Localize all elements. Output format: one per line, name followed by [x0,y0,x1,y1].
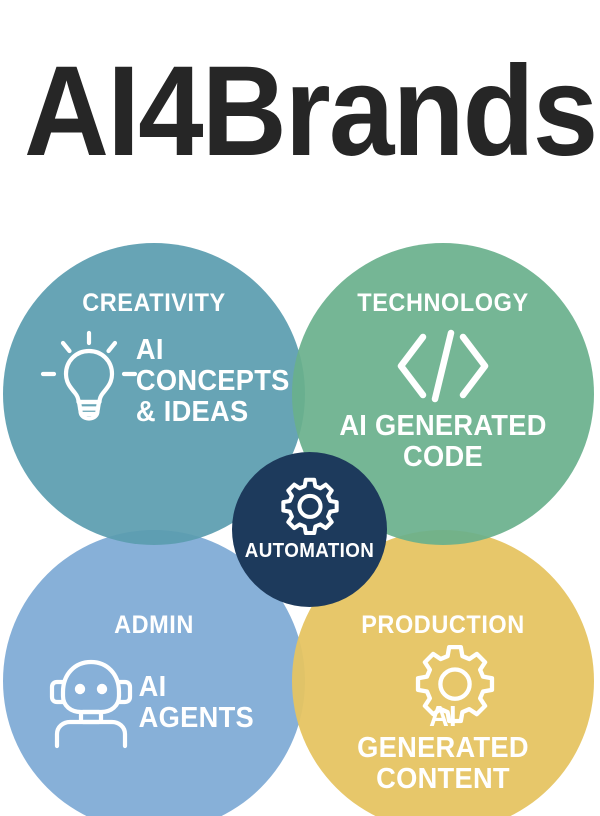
center-automation[interactable]: AUTOMATION [232,452,387,607]
lightbulb-icon [39,329,139,429]
quadrant-technology-title: TECHNOLOGY [301,289,585,318]
robot-icon [41,648,141,748]
infographic-canvas: AI4Brands CREATIVITY [0,0,600,816]
quadrant-creativity-title: CREATIVITY [12,289,296,318]
page-title: AI4Brands [24,44,576,180]
quadrant-creativity-subtitle: AI CONCEPTS & IDEAS [136,335,290,428]
quadrant-production-subtitle: AI GENERATED CONTENT [301,702,585,795]
gear-icon [279,476,341,538]
quadrant-admin-subtitle: AI AGENTS [139,672,254,734]
center-automation-label: AUTOMATION [237,540,383,563]
quadrant-admin-title: ADMIN [12,611,296,640]
center-automation-content: AUTOMATION [232,452,387,607]
quadrant-production-title: PRODUCTION [301,611,585,640]
code-brackets-icon [393,327,493,405]
